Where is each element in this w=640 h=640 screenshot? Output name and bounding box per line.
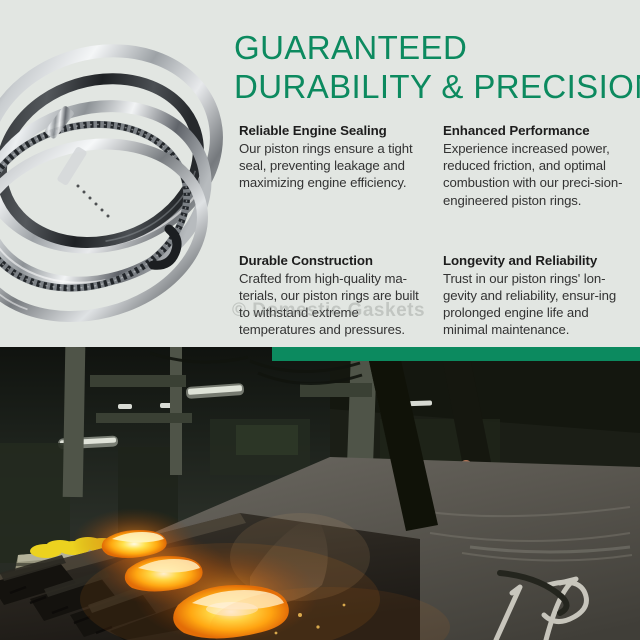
feature-body: Experience increased power, reduced fric… (443, 140, 623, 209)
feature-body: Our piston rings ensure a tight seal, pr… (239, 140, 421, 192)
feature-title: Reliable Engine Sealing (239, 122, 443, 139)
feature-title: Durable Construction (239, 252, 443, 269)
feature-body: Crafted from high-quality ma-terials, ou… (239, 270, 421, 339)
feature-title: Enhanced Performance (443, 122, 631, 139)
piston-rings-product-image (0, 8, 236, 330)
marketing-graphic-page: GUARANTEED DURABILITY & PRECISION Reliab… (0, 0, 640, 640)
factory-forge-image (0, 347, 640, 640)
feature-item-reliable-engine-sealing: Reliable Engine Sealing Our piston rings… (239, 122, 443, 209)
feature-item-enhanced-performance: Enhanced Performance Experience increase… (443, 122, 631, 209)
feature-grid: Reliable Engine Sealing Our piston rings… (239, 122, 631, 339)
headline: GUARANTEED DURABILITY & PRECISION (234, 28, 634, 106)
headline-line-1: GUARANTEED (234, 28, 634, 67)
headline-line-2: DURABILITY & PRECISION (234, 67, 634, 106)
top-content-panel: GUARANTEED DURABILITY & PRECISION Reliab… (0, 0, 640, 347)
feature-body: Trust in our piston rings' lon-gevity an… (443, 270, 623, 339)
feature-item-durable-construction: Durable Construction Crafted from high-q… (239, 252, 443, 339)
green-accent-bar (272, 347, 640, 361)
feature-title: Longevity and Reliability (443, 252, 631, 269)
feature-item-longevity-and-reliability: Longevity and Reliability Trust in our p… (443, 252, 631, 339)
